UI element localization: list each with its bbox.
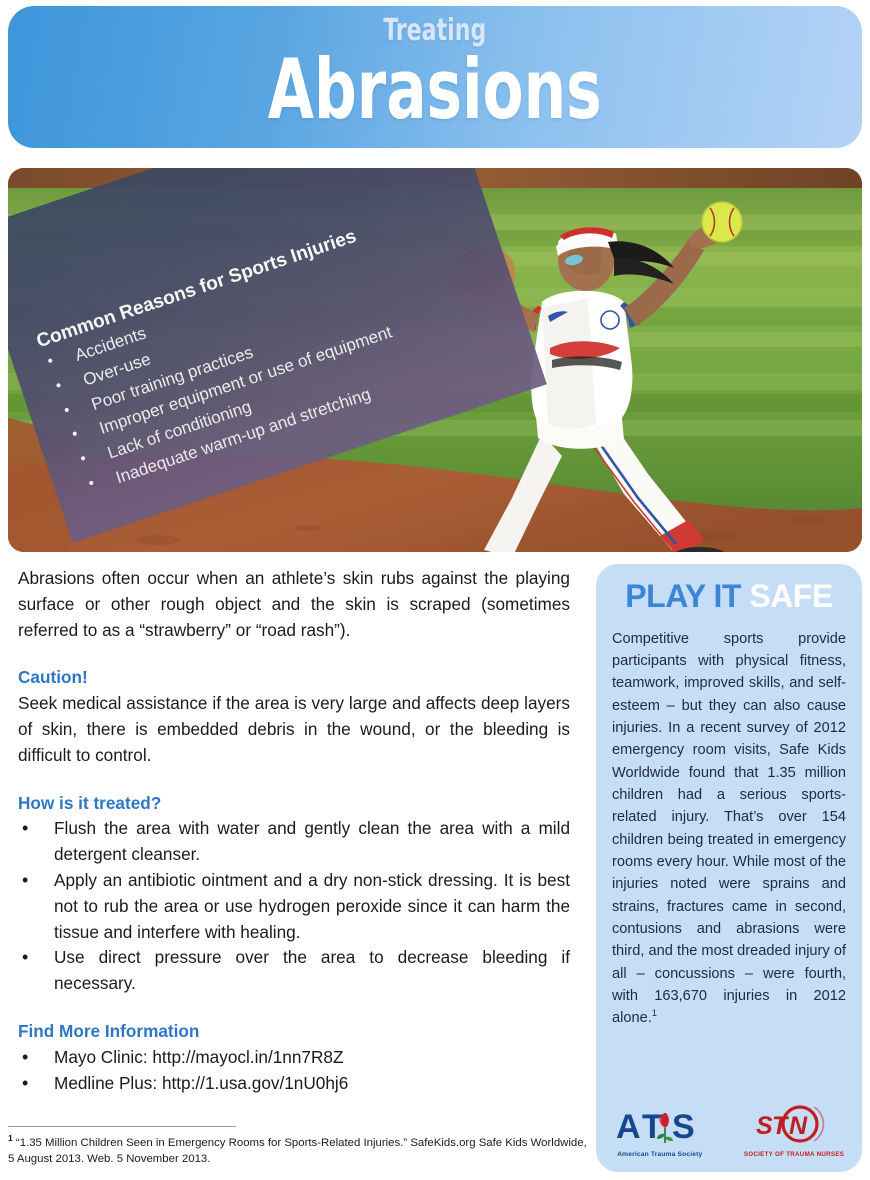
play-it-safe-sidebar: PLAY IT SAFE Competitive sports provide … [596, 564, 862, 1172]
intro-paragraph: Abrasions often occur when an athlete’s … [18, 566, 570, 643]
more-info-link-item[interactable]: Mayo Clinic: http://mayocl.in/1nn7R8Z [18, 1045, 570, 1071]
more-info-link-item[interactable]: Medline Plus: http://1.usa.gov/1nU0hj6 [18, 1071, 570, 1097]
ats-logo-mark: A T S [614, 1105, 706, 1147]
hero-photo: Common Reasons for Sports Injuries Accid… [8, 168, 862, 552]
svg-text:S: S [756, 1112, 773, 1140]
treatment-list-item: Apply an antibiotic ointment and a dry n… [18, 868, 570, 945]
footnote-separator [8, 1126, 236, 1127]
page-title: Abrasions [268, 48, 602, 133]
footnote-text: 1 “1.35 Million Children Seen in Emergen… [8, 1132, 588, 1167]
svg-text:S: S [672, 1108, 695, 1146]
sidebar-body-text: Competitive sports provide participants … [612, 628, 846, 1030]
svg-text:T: T [642, 1108, 663, 1146]
stn-logo-mark: S T N [748, 1104, 840, 1146]
stn-logo-caption: SOCIETY OF TRAUMA NURSES [744, 1151, 844, 1158]
svg-text:A: A [616, 1108, 641, 1146]
treatment-list-item: Use direct pressure over the area to dec… [18, 945, 570, 997]
footnote-citation: “1.35 Million Children Seen in Emergency… [8, 1137, 587, 1165]
caution-paragraph: Seek medical assistance if the area is v… [18, 691, 570, 768]
sidebar-title: PLAY IT SAFE [596, 580, 862, 614]
sidebar-title-part2: SAFE [749, 578, 832, 614]
treatment-heading: How is it treated? [18, 791, 570, 817]
stn-logo: S T N SOCIETY OF TRAUMA NURSES [744, 1104, 844, 1158]
treatment-list-item: Flush the area with water and gently cle… [18, 816, 570, 868]
caution-heading: Caution! [18, 665, 570, 691]
sidebar-footnote-marker: 1 [652, 1008, 657, 1019]
more-info-list: Mayo Clinic: http://mayocl.in/1nn7R8Z Me… [18, 1045, 570, 1097]
footnote-marker: 1 [8, 1133, 13, 1143]
sidebar-logo-row: A T S American Trauma Society [596, 1104, 862, 1158]
treatment-list: Flush the area with water and gently cle… [18, 816, 570, 997]
ats-logo-caption: American Trauma Society [614, 1151, 706, 1158]
page-header-banner: Treating Abrasions [8, 6, 862, 148]
footnote-block: 1 “1.35 Million Children Seen in Emergen… [8, 1126, 588, 1167]
sidebar-title-part1: PLAY IT [625, 578, 741, 614]
svg-text:N: N [789, 1112, 808, 1140]
ats-logo: A T S American Trauma Society [614, 1105, 706, 1158]
document-body: Abrasions often occur when an athlete’s … [0, 560, 870, 1180]
main-text-column: Abrasions often occur when an athlete’s … [18, 566, 570, 1096]
sidebar-body-copy: Competitive sports provide participants … [612, 631, 846, 1027]
more-info-heading: Find More Information [18, 1019, 570, 1045]
